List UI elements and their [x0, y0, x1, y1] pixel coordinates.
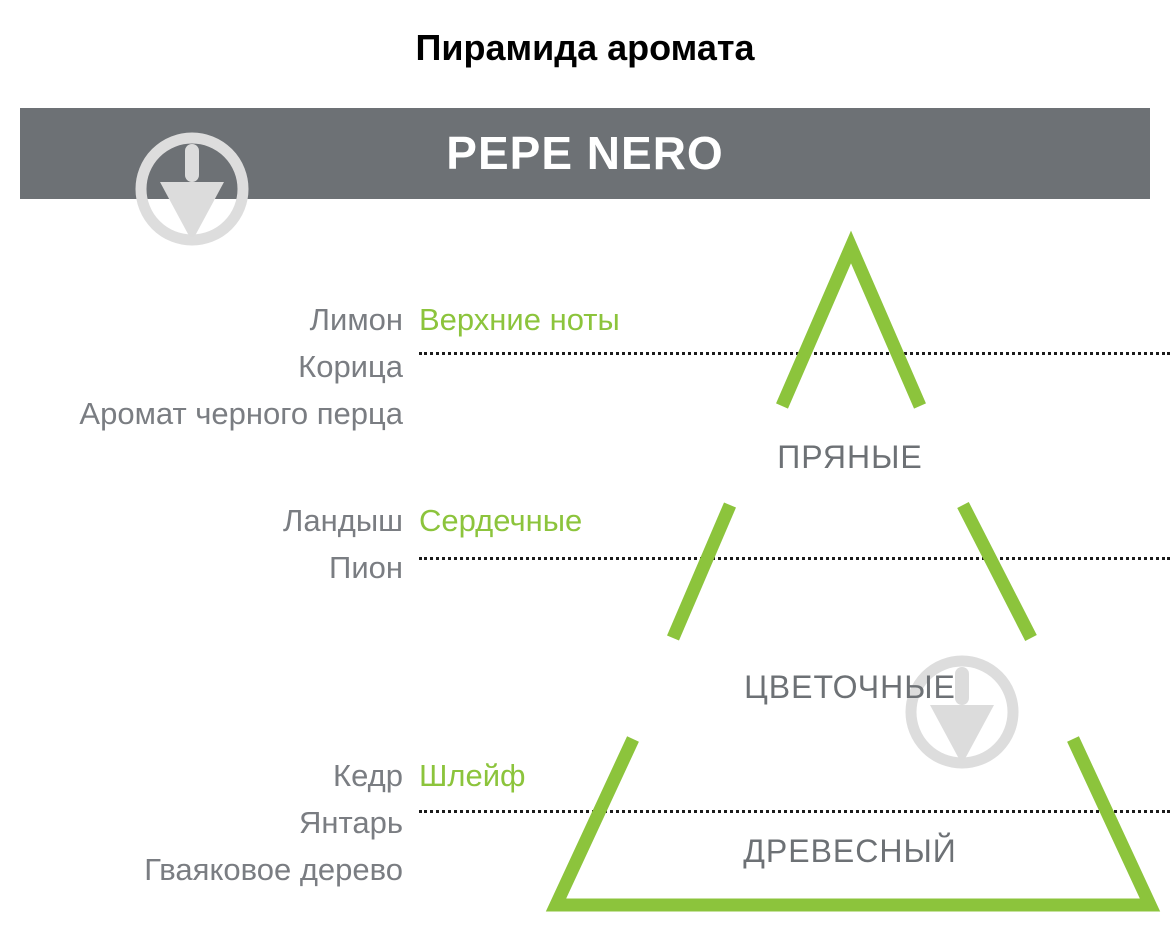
list-item: Ландыш [283, 497, 403, 544]
note-title-top: Верхние ноты [419, 296, 620, 343]
ingredient-list-top: Лимон Корица Аромат черного перца [79, 296, 403, 437]
pyramid-tier-2-left-edge [673, 505, 730, 638]
ingredient-list-base: Кедр Янтарь Гваяковое дерево [144, 752, 403, 893]
list-item: Янтарь [144, 799, 403, 846]
note-title-heart: Сердечные [419, 497, 582, 544]
ingredient-list-heart: Ландыш Пион [283, 497, 403, 591]
list-item: Кедр [144, 752, 403, 799]
list-item: Аромат черного перца [79, 390, 403, 437]
list-item: Гваяковое дерево [144, 846, 403, 893]
pyramid-tier-2-right-edge [963, 505, 1031, 638]
pyramid-family-label-floral: ЦВЕТОЧНЫЕ [700, 668, 1000, 706]
pyramid-family-label-woody: ДРЕВЕСНЫЙ [700, 832, 1000, 870]
list-item: Лимон [79, 296, 403, 343]
pyramid-tier-1-outline [782, 247, 920, 406]
list-item: Корица [79, 343, 403, 390]
note-title-base: Шлейф [419, 752, 526, 799]
list-item: Пион [283, 544, 403, 591]
pyramid-family-label-spicy: ПРЯНЫЕ [700, 438, 1000, 476]
pyramid-tier-3-outline [556, 739, 1150, 905]
fragrance-pyramid-infographic: Пирамида аромата PEPE NERO Лимон Корица … [0, 0, 1170, 930]
